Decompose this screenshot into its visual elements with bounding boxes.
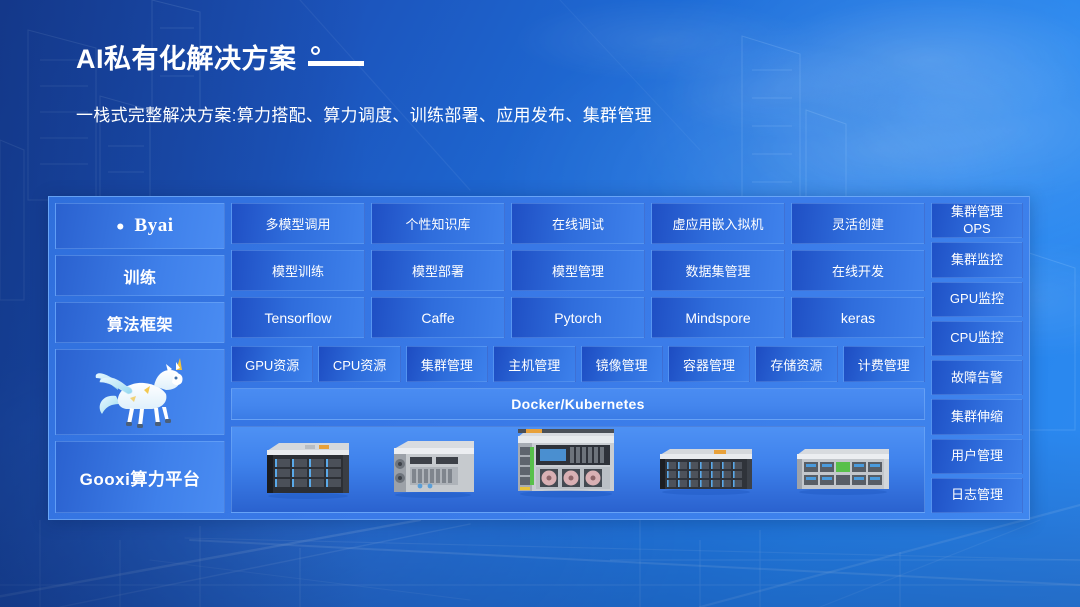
feature-cell[interactable]: 灵活创建 [791, 203, 925, 244]
docker-kubernetes-bar: Docker/Kubernetes [231, 388, 925, 420]
ops-item-cluster-management[interactable]: 集群管理 OPS [931, 203, 1023, 238]
feature-cell[interactable]: 模型训练 [231, 250, 365, 291]
brand-logo-cell: Byai [55, 203, 225, 249]
feature-cell[interactable]: 模型部署 [371, 250, 505, 291]
resource-chips-row: GPU资源 CPU资源 集群管理 主机管理 镜像管理 容器管理 存储资源 计费管… [231, 346, 925, 382]
title-row: AI私有化解决方案 [76, 44, 896, 75]
left-item-gooxi-platform: Gooxi算力平台 [55, 441, 225, 513]
feature-cell[interactable]: 虚应用嵌入拟机 [651, 203, 785, 244]
winged-unicorn-icon [88, 352, 192, 432]
left-item-training: 训练 [55, 255, 225, 296]
feature-cell[interactable]: 个性知识库 [371, 203, 505, 244]
resource-chip[interactable]: CPU资源 [318, 346, 400, 382]
page-title: AI私有化解决方案 [76, 44, 297, 75]
title-decoration [308, 46, 364, 66]
brand-logo-text: Byai [135, 215, 174, 237]
ops-item-fault-alarm[interactable]: 故障告警 [931, 360, 1023, 395]
ops-item-user-management[interactable]: 用户管理 [931, 439, 1023, 474]
feature-cell[interactable]: 在线调试 [511, 203, 645, 244]
framework-row: Tensorflow Caffe Pytorch Mindspore keras [231, 297, 925, 338]
resource-chip[interactable]: 集群管理 [406, 346, 488, 382]
resource-chip[interactable]: 容器管理 [668, 346, 750, 382]
right-column-ops: 集群管理 OPS 集群监控 GPU监控 CPU监控 故障告警 集群伸缩 用户管理… [931, 203, 1023, 513]
feature-row-2: 模型训练 模型部署 模型管理 数据集管理 在线开发 [231, 250, 925, 291]
framework-cell[interactable]: Mindspore [651, 297, 785, 338]
mascot-cell [55, 349, 225, 435]
page-subtitle: 一栈式完整解决方案:算力搭配、算力调度、训练部署、应用发布、集群管理 [76, 101, 896, 126]
framework-cell[interactable]: keras [791, 297, 925, 338]
feature-cell[interactable]: 在线开发 [791, 250, 925, 291]
framework-cell[interactable]: Tensorflow [231, 297, 365, 338]
left-column: Byai 训练 算法框架 [55, 203, 225, 513]
resource-chip[interactable]: 计费管理 [843, 346, 925, 382]
ops-item-log-management[interactable]: 日志管理 [931, 478, 1023, 513]
framework-cell[interactable]: Caffe [371, 297, 505, 338]
feature-cell[interactable]: 多模型调用 [231, 203, 365, 244]
feature-row-1: 多模型调用 个性知识库 在线调试 虚应用嵌入拟机 灵活创建 [231, 203, 925, 244]
framework-cell[interactable]: Pytorch [511, 297, 645, 338]
ops-item-gpu-monitor[interactable]: GPU监控 [931, 282, 1023, 317]
feature-cell[interactable]: 模型管理 [511, 250, 645, 291]
resource-chip[interactable]: 主机管理 [493, 346, 575, 382]
ops-item-cpu-monitor[interactable]: CPU监控 [931, 321, 1023, 356]
ops-item-cluster-scaling[interactable]: 集群伸缩 [931, 399, 1023, 434]
title-underline-bar [308, 61, 364, 66]
ops-item-cluster-monitor[interactable]: 集群监控 [931, 242, 1023, 277]
ring-dot-icon [311, 46, 320, 55]
resource-chip[interactable]: 镜像管理 [581, 346, 663, 382]
center-column: 多模型调用 个性知识库 在线调试 虚应用嵌入拟机 灵活创建 模型训练 模型部署 … [231, 203, 925, 513]
resource-chip[interactable]: 存储资源 [755, 346, 837, 382]
server-hardware-band [231, 426, 925, 513]
page-header: AI私有化解决方案 一栈式完整解决方案:算力搭配、算力调度、训练部署、应用发布、… [76, 44, 896, 126]
left-item-algorithm-framework: 算法框架 [55, 302, 225, 343]
resource-chip[interactable]: GPU资源 [231, 346, 313, 382]
server-image-2 [386, 433, 478, 504]
byai-logo-icon [107, 216, 128, 237]
server-image-1 [261, 433, 353, 504]
brand-logo: Byai [107, 215, 174, 237]
architecture-panel: Byai 训练 算法框架 [48, 196, 1030, 520]
server-image-4 [654, 439, 758, 504]
feature-cell[interactable]: 数据集管理 [651, 250, 785, 291]
server-image-5 [791, 441, 895, 504]
server-image-3 [512, 421, 620, 504]
